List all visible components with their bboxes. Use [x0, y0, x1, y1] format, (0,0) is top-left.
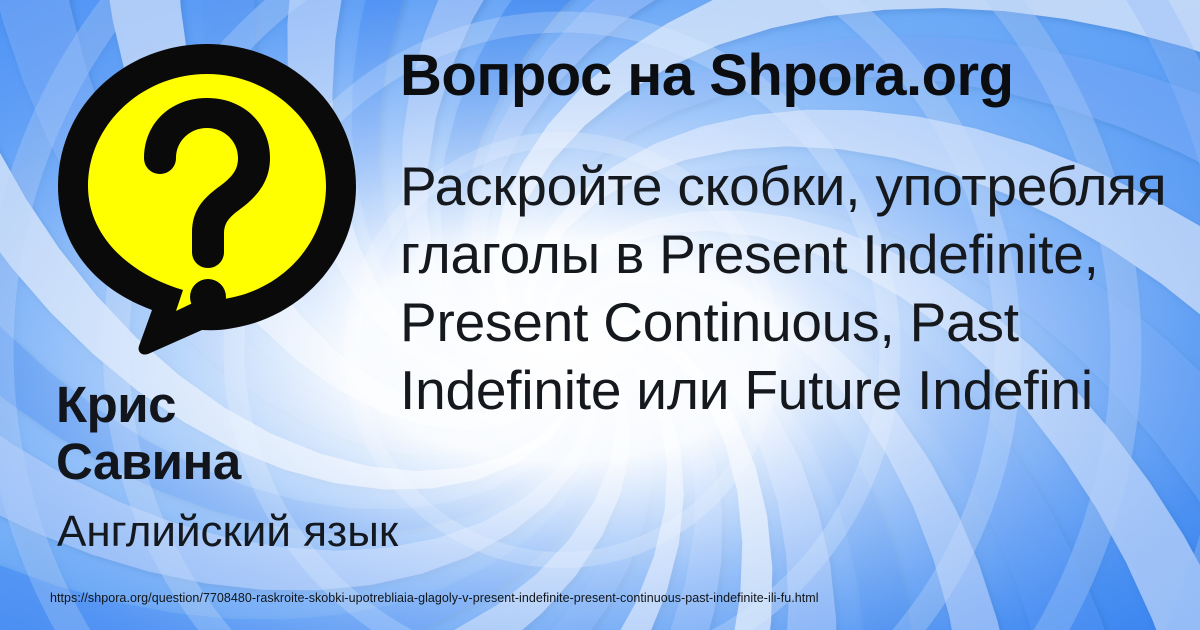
author-name: Крис Савина	[56, 376, 386, 490]
subject-label: Английский язык	[57, 508, 398, 556]
question-text: Раскройте скобки, употребляя глаголы в P…	[400, 152, 1190, 424]
question-bubble-block	[52, 38, 362, 356]
question-line-3: Present Continuous, Past	[400, 288, 1190, 356]
question-line-4: Indefinite или Future Indefini	[400, 356, 1190, 424]
shpora-question-card: Крис Савина Английский язык Вопрос на Sh…	[0, 0, 1200, 630]
question-line-2: глаголы в Present Indefinite,	[400, 220, 1190, 288]
question-speech-bubble-icon	[52, 38, 362, 356]
author-name-line-1: Крис	[56, 376, 386, 433]
source-url[interactable]: https://shpora.org/question/7708480-rask…	[50, 591, 819, 605]
question-mark-dot	[190, 279, 226, 315]
page-title: Вопрос на Shpora.org	[400, 46, 1014, 107]
question-line-1: Раскройте скобки, употребляя	[400, 152, 1190, 220]
author-name-line-2: Савина	[56, 433, 386, 490]
